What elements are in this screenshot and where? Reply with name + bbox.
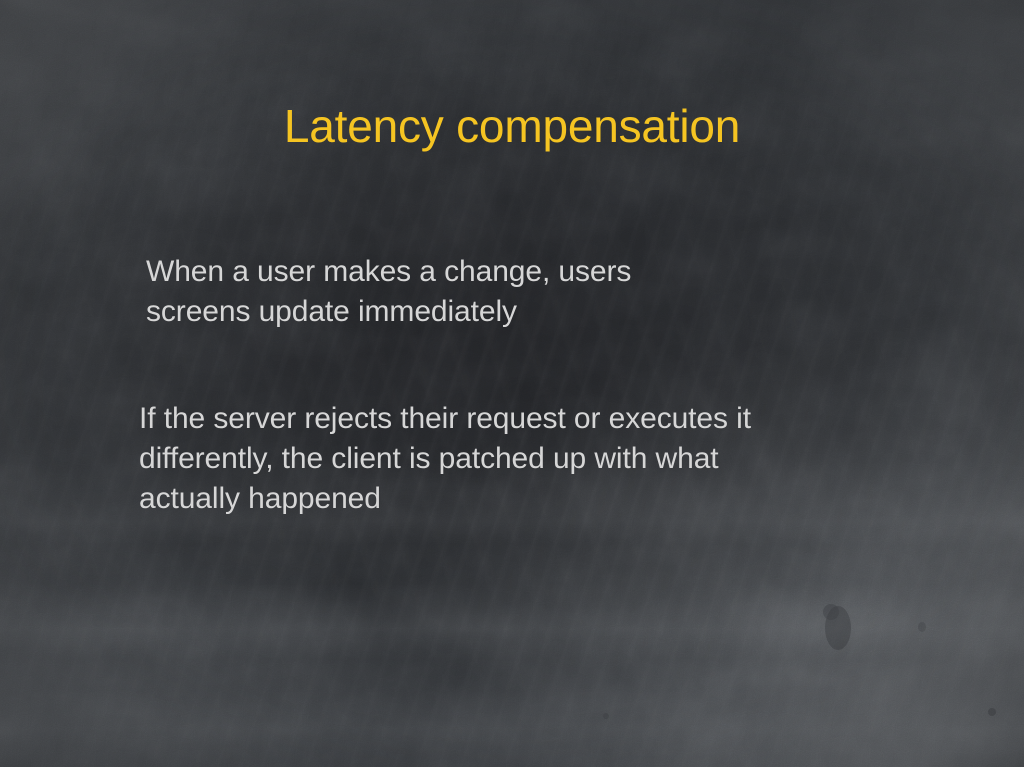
paragraph-two: If the server rejects their request or e… xyxy=(139,399,909,519)
paragraph-two-line-3: actually happened xyxy=(139,479,909,519)
slide-content: Latency compensation When a user makes a… xyxy=(0,0,1024,767)
presentation-slide: Latency compensation When a user makes a… xyxy=(0,0,1024,767)
paragraph-two-line-1: If the server rejects their request or e… xyxy=(139,399,909,439)
paragraph-one: When a user makes a change, users screen… xyxy=(146,252,766,332)
slide-title: Latency compensation xyxy=(0,98,1024,154)
paragraph-one-line-2: screens update immediately xyxy=(146,292,766,332)
paragraph-one-line-1: When a user makes a change, users xyxy=(146,252,766,292)
paragraph-two-line-2: differently, the client is patched up wi… xyxy=(139,439,909,479)
